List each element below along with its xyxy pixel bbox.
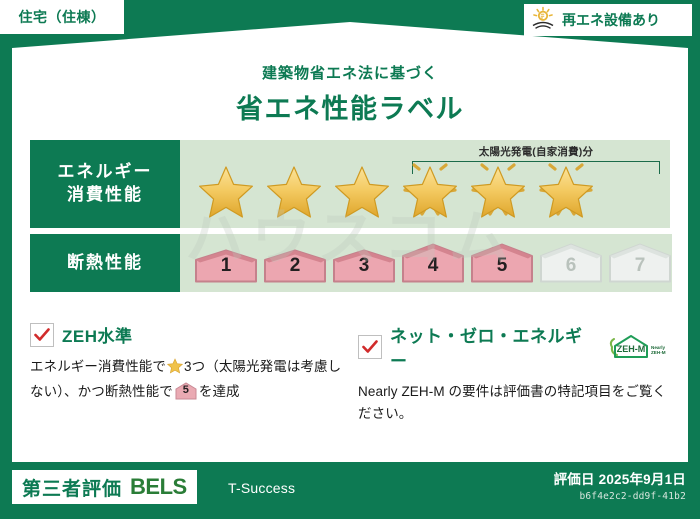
star-icon-solar [534,156,598,218]
criteria-section: ZEH水準 エネルギー消費性能で3つ（太陽光発電は考慮しない）、かつ断熱性能で5… [30,322,670,426]
renewable-energy-badge: 再エネ設備あり [524,4,692,36]
star-icon [262,156,326,218]
footer-meta: 評価日 2025年9月1日 b6f4e2c2-dd9f-41b2 [554,468,686,502]
nze-heading: ネット・ゼロ・エネルギー [390,322,596,372]
nze-checkbox [358,335,382,359]
energy-performance-row: エネルギー 消費性能 太陽光発電(自家消費)分 [30,140,670,228]
bels-energy-label: 住宅（住棟） 再エネ設備あり 建築物省エネ法に基づく 省エ [0,0,700,519]
evaluation-date: 評価日 2025年9月1日 [554,468,686,488]
insulation-level-5: 5 [470,243,534,283]
insulation-level-value: 7 [608,255,672,277]
insulation-performance-row: 断熱性能 1 2 3 4 5 6 7 [30,234,670,292]
zeh-m-logo: ZEH-M Nearly ZEH-M [608,333,670,361]
star-icon [330,156,394,218]
evaluator-name: T-Success [228,480,295,496]
star-icon-solar [466,156,530,218]
insulation-level-value: 1 [194,255,258,277]
energy-performance-body: 太陽光発電(自家消費)分 [180,140,670,228]
zeh-description: エネルギー消費性能で3つ（太陽光発電は考慮しない）、かつ断熱性能で5を達成 [30,356,342,404]
ratings-table: エネルギー 消費性能 太陽光発電(自家消費)分 [30,140,670,298]
insulation-level-4: 4 [401,243,465,283]
insulation-level-value: 3 [332,255,396,277]
category-tag: 住宅（住棟） [0,0,124,34]
zeh-criteria-column: ZEH水準 エネルギー消費性能で3つ（太陽光発電は考慮しない）、かつ断熱性能で5… [30,322,342,426]
inline-star-icon [167,358,183,381]
bels-logo: BELS [130,474,187,500]
insulation-level-scale: 1 2 3 4 5 6 7 [180,243,672,283]
insulation-level-value: 6 [539,255,603,277]
renewable-badge-label: 再エネ設備あり [562,10,660,30]
title-subtitle: 建築物省エネ法に基づく [30,62,670,83]
insulation-level-value: 5 [470,255,534,277]
svg-text:ZEH-M: ZEH-M [651,350,666,355]
bels-certification-box: 第三者評価 BELS [12,470,197,504]
nze-heading-row: ネット・ゼロ・エネルギー ZEH-M Nearly ZEH-M [358,322,670,372]
star-icon [194,156,258,218]
footer: 第三者評価 BELS T-Success 評価日 2025年9月1日 b6f4e… [0,462,700,519]
insulation-level-value: 2 [263,255,327,277]
insulation-level-7: 7 [608,243,672,283]
zeh-heading-row: ZEH水準 [30,322,342,347]
insulation-level-value: 4 [401,255,465,277]
page-title: 省エネ性能ラベル [30,87,670,126]
sun-renewable-icon [530,6,556,35]
zeh-heading: ZEH水準 [62,322,133,347]
nze-criteria-column: ネット・ゼロ・エネルギー ZEH-M Nearly ZEH-M Nearly Z… [358,322,670,426]
nze-description: Nearly ZEH-M の要件は評価書の特記項目をご覧ください。 [358,381,670,426]
svg-text:ZEH-M: ZEH-M [617,344,646,354]
star-rating [180,156,598,218]
insulation-level-6: 6 [539,243,603,283]
label-panel: 建築物省エネ法に基づく 省エネ性能ラベル ハウスコム エネルギー 消費性能 太陽… [12,22,688,462]
insulation-level-3: 3 [332,249,396,283]
bels-jp-label: 第三者評価 [22,474,122,501]
insulation-performance-body: 1 2 3 4 5 6 7 [180,234,672,292]
energy-performance-label: エネルギー 消費性能 [30,140,180,228]
insulation-level-1: 1 [194,249,258,283]
star-icon-solar [398,156,462,218]
zeh-checkbox [30,323,54,347]
insulation-performance-label: 断熱性能 [30,234,180,292]
label-uid: b6f4e2c2-dd9f-41b2 [554,491,686,502]
inline-house-badge: 5 [175,382,197,400]
insulation-level-2: 2 [263,249,327,283]
